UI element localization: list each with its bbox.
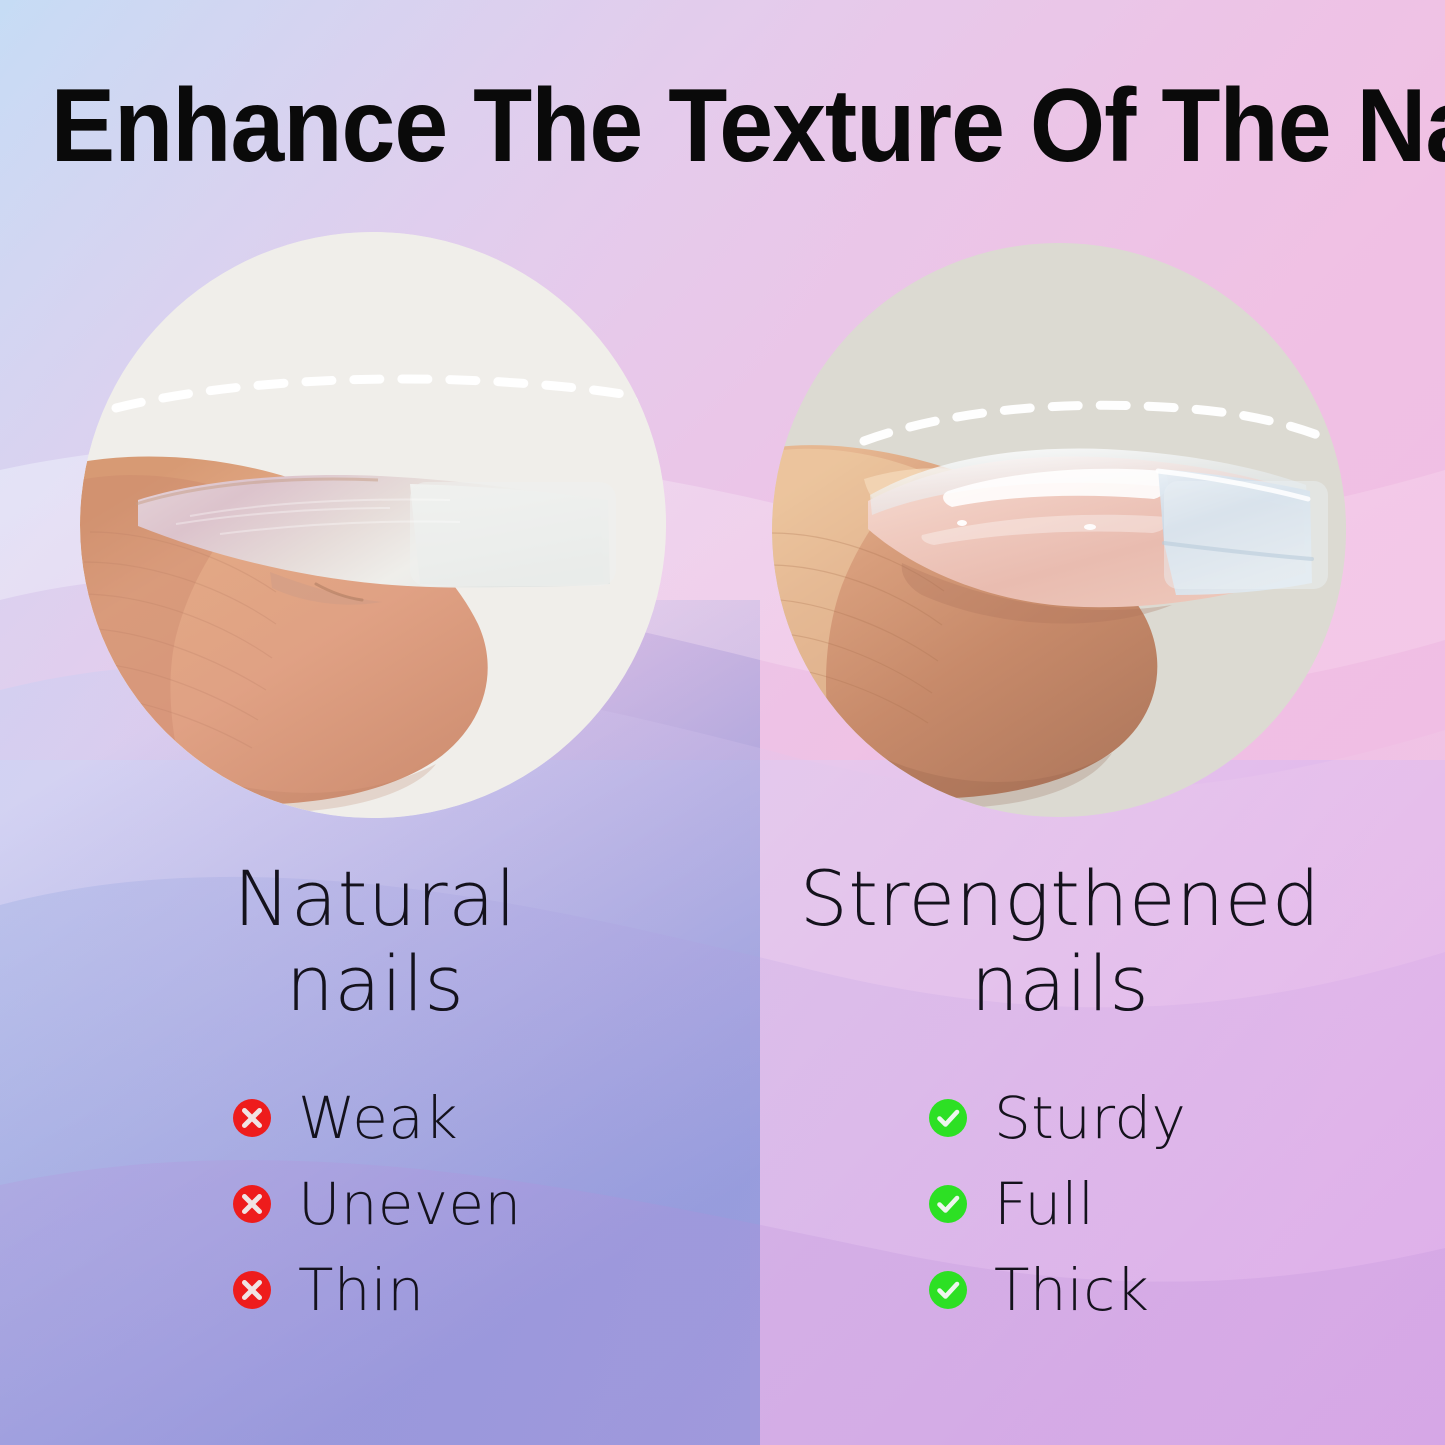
column-label-natural: Natural nails — [120, 856, 630, 1026]
column-label-natural-line2: nails — [120, 941, 630, 1026]
check-circle-icon — [928, 1184, 968, 1224]
list-item-label: Thick — [994, 1261, 1149, 1319]
list-item-label: Sturdy — [994, 1089, 1186, 1147]
check-circle-icon — [928, 1270, 968, 1310]
column-label-strengthened-line1: Strengthened — [740, 856, 1380, 941]
list-item: Thin — [232, 1262, 521, 1318]
list-item: Weak — [232, 1090, 521, 1146]
list-item: Thick — [928, 1262, 1186, 1318]
list-item-label: Thin — [298, 1261, 424, 1319]
cross-circle-icon — [232, 1270, 272, 1310]
list-item-label: Weak — [298, 1089, 458, 1147]
photo-natural-nails — [80, 232, 666, 818]
column-label-strengthened-line2: nails — [740, 941, 1380, 1026]
column-label-strengthened: Strengthened nails — [740, 856, 1380, 1026]
check-circle-icon — [928, 1098, 968, 1138]
page-title: Enhance The Texture Of The Nails — [51, 74, 1395, 178]
list-item: Full — [928, 1176, 1186, 1232]
list-item-label: Full — [994, 1175, 1094, 1233]
product-comparison-infographic: Enhance The Texture Of The Nails — [0, 0, 1445, 1445]
feature-list-natural: Weak Uneven Thin — [232, 1090, 521, 1318]
feature-list-strengthened: Sturdy Full Thick — [928, 1090, 1186, 1318]
cross-circle-icon — [232, 1098, 272, 1138]
photo-strengthened-nails — [772, 243, 1346, 817]
cross-circle-icon — [232, 1184, 272, 1224]
list-item-label: Uneven — [298, 1175, 521, 1233]
list-item: Uneven — [232, 1176, 521, 1232]
column-label-natural-line1: Natural — [120, 856, 630, 941]
list-item: Sturdy — [928, 1090, 1186, 1146]
